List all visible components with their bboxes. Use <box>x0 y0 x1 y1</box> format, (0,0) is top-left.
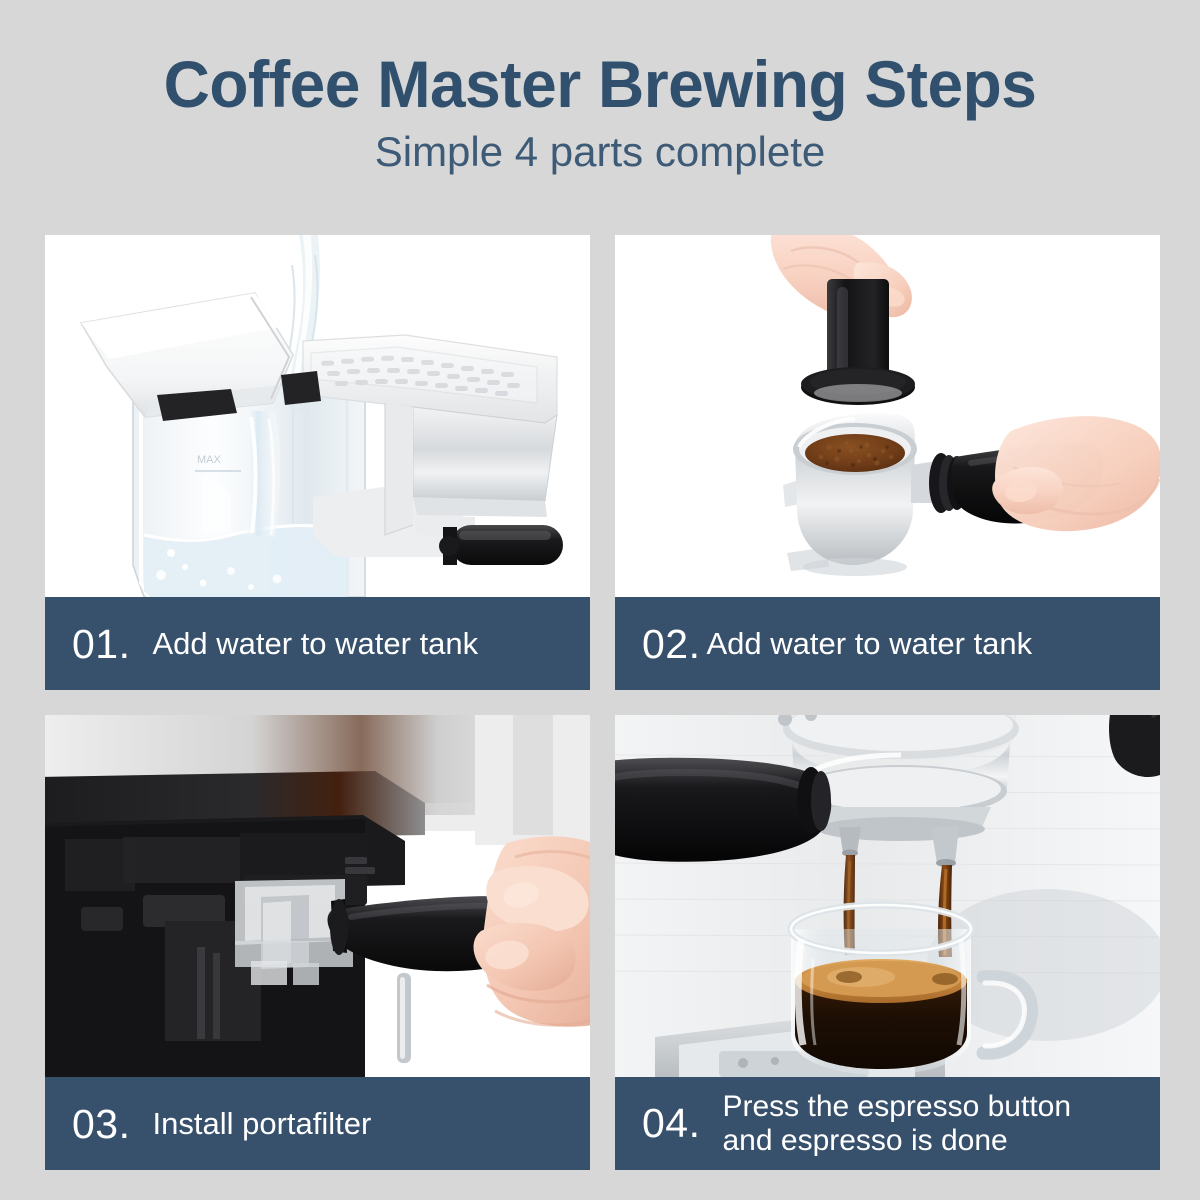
step-card-04[interactable]: 04. Press the espresso button and espres… <box>615 715 1160 1170</box>
step-caption-03: 03. Install portafilter <box>45 1077 590 1170</box>
page-title: Coffee Master Brewing Steps <box>18 0 1182 120</box>
step-card-01[interactable]: MAX <box>45 235 590 690</box>
step-card-02[interactable]: 02. Add water to water tank <box>615 235 1160 690</box>
step-card-03[interactable]: 03. Install portafilter <box>45 715 590 1170</box>
infographic-page: Coffee Master Brewing Steps Simple 4 par… <box>0 0 1200 1200</box>
steps-grid: MAX <box>45 235 1157 1162</box>
step-label-03: Install portafilter <box>153 1106 591 1141</box>
step-label-01: Add water to water tank <box>153 626 591 661</box>
page-subtitle: Simple 4 parts complete <box>0 120 1200 177</box>
step-number-03: 03. <box>72 1102 131 1146</box>
step-caption-04: 04. Press the espresso button and espres… <box>615 1077 1160 1170</box>
svg-text:MAX: MAX <box>197 454 222 466</box>
step-caption-01: 01. Add water to water tank <box>45 597 590 690</box>
step-label-04-line-1: Press the espresso button <box>723 1090 1072 1123</box>
step-image-04 <box>615 715 1160 1077</box>
step-image-02 <box>615 235 1160 597</box>
step-number-02: 02. <box>642 622 701 666</box>
step-label-02: Add water to water tank <box>707 626 1161 661</box>
page-header: Coffee Master Brewing Steps Simple 4 par… <box>0 0 1200 205</box>
step-label-04-line-2: and espresso is done <box>723 1124 1008 1157</box>
step-image-01: MAX <box>45 235 590 597</box>
step-number-04: 04. <box>642 1101 701 1145</box>
step-caption-02: 02. Add water to water tank <box>615 597 1160 690</box>
step-image-03 <box>45 715 590 1077</box>
step-label-04: Press the espresso button and espresso i… <box>723 1090 1161 1158</box>
step-number-01: 01. <box>72 622 131 666</box>
